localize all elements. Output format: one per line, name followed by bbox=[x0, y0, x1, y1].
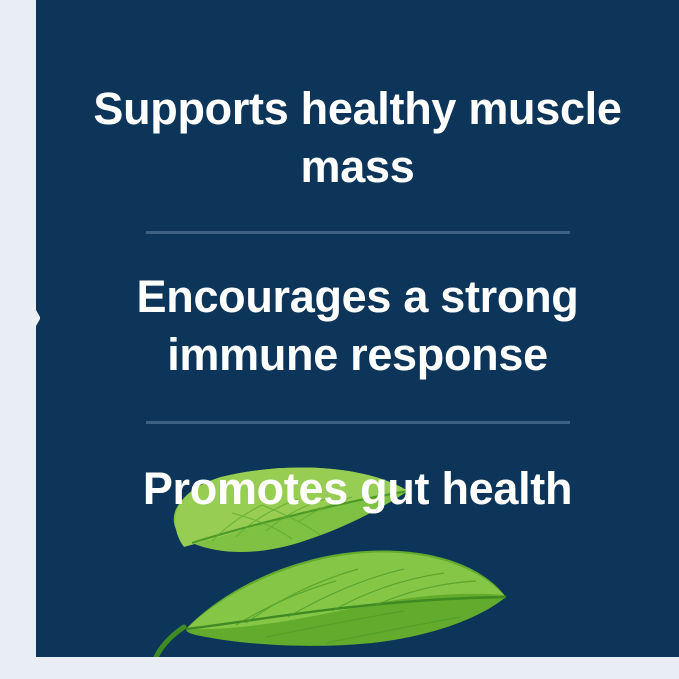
product-benefits-graphic: Supports healthy muscle mass Encourages … bbox=[0, 0, 679, 679]
divider-1 bbox=[146, 231, 570, 234]
benefit-item-3: Promotes gut health bbox=[36, 460, 679, 518]
benefit-item-1: Supports healthy muscle mass bbox=[36, 80, 679, 195]
benefits-list: Supports healthy muscle mass Encourages … bbox=[36, 0, 679, 518]
divider-2 bbox=[146, 421, 570, 424]
benefit-item-2: Encourages a strong immune response bbox=[36, 268, 679, 383]
chevron-right-notch-icon bbox=[0, 248, 40, 388]
dark-panel: Supports healthy muscle mass Encourages … bbox=[36, 0, 679, 657]
